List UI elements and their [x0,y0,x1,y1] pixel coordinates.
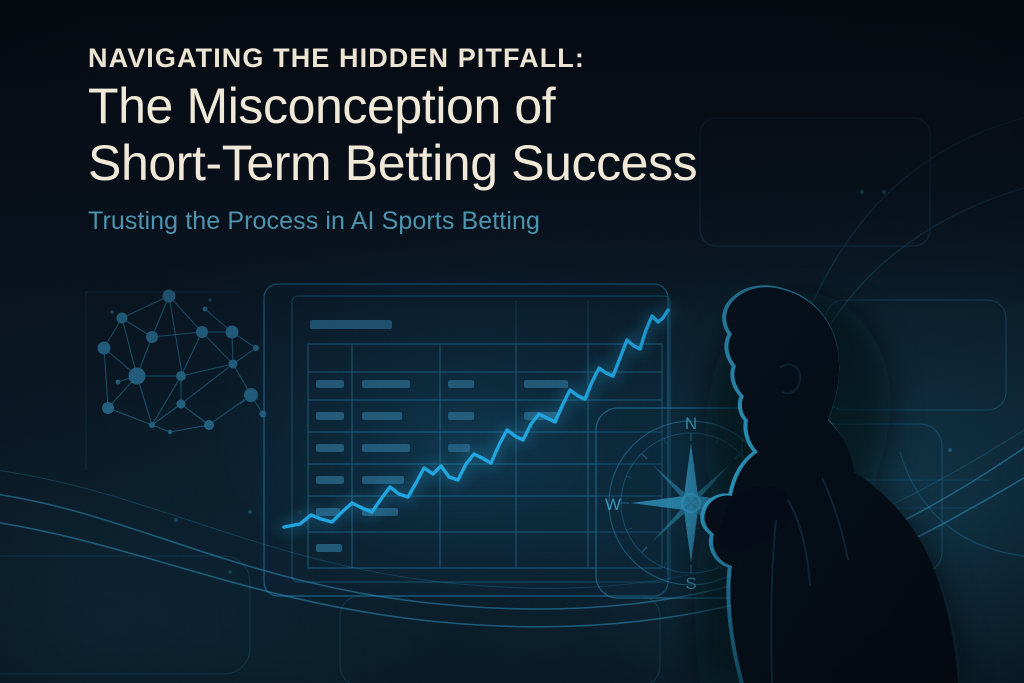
hero-headline: The Misconception of Short-Term Betting … [88,78,848,192]
hero-subtitle: Trusting the Process in AI Sports Bettin… [88,206,848,236]
hero-headline-line1: The Misconception of [88,78,555,134]
hero-eyebrow: NAVIGATING THE HIDDEN PITFALL: [88,44,848,72]
hero-banner: N W S NAVIGATING THE HIDDEN PITFALL: The… [0,0,1024,683]
hero-text-block: NAVIGATING THE HIDDEN PITFALL: The Misco… [88,44,848,236]
hero-headline-line2: Short-Term Betting Success [88,135,848,192]
